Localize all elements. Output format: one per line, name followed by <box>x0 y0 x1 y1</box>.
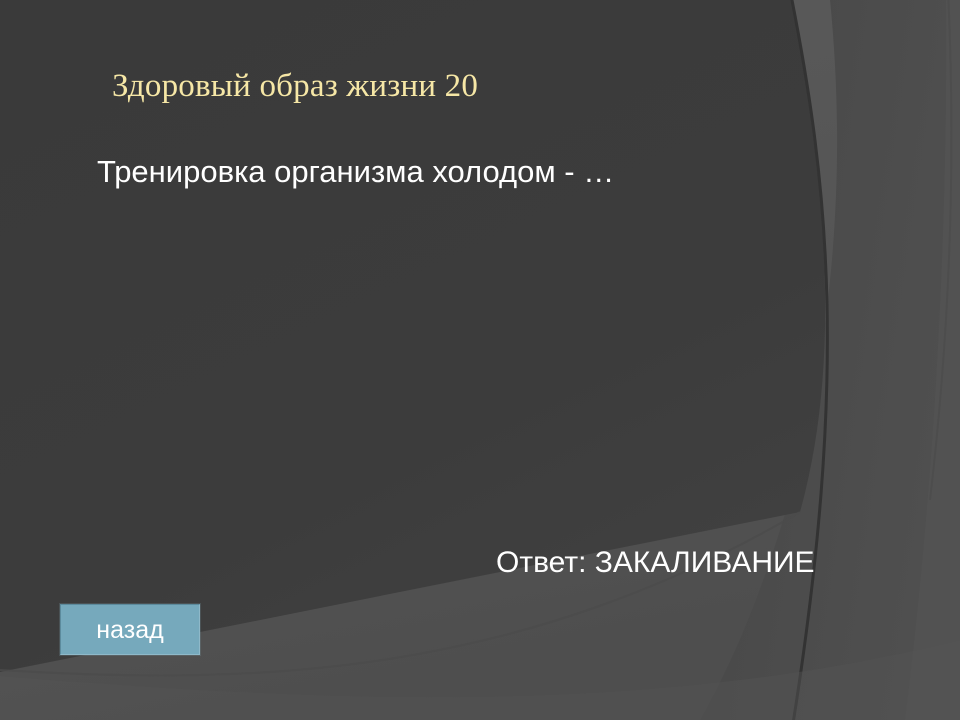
back-button[interactable]: назад <box>60 604 200 655</box>
slide-canvas: Здоровый образ жизни 20 Тренировка орган… <box>0 0 960 720</box>
answer-text: Ответ: ЗАКАЛИВАНИЕ <box>496 543 815 583</box>
question-text: Тренировка организма холодом - … <box>97 152 614 192</box>
page-title: Здоровый образ жизни 20 <box>112 66 478 106</box>
slide-content: Здоровый образ жизни 20 Тренировка орган… <box>0 0 960 720</box>
back-button-label: назад <box>96 616 163 644</box>
